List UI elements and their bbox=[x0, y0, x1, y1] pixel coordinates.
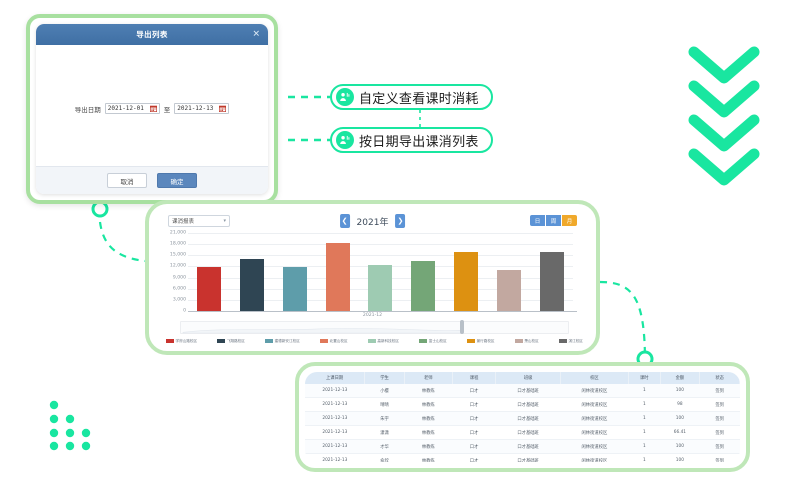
legend-label: 景行路校区 bbox=[477, 339, 495, 344]
table-cell: 林教练 bbox=[404, 454, 452, 463]
table-cell: 2021-12-13 bbox=[305, 440, 365, 454]
report-type-value: 课消报表 bbox=[172, 217, 194, 225]
table-header-row: 上课日期学生老师课程班级校区课时金额状态 bbox=[305, 372, 740, 384]
table-column-header[interactable]: 课时 bbox=[629, 372, 660, 384]
table-cell: 98 bbox=[660, 398, 700, 412]
date-to-input[interactable]: 2021-12-13 bbox=[174, 103, 229, 114]
date-range-row: 导出日期 2021-12-01 至 bbox=[36, 103, 268, 114]
table-cell: 林教练 bbox=[404, 412, 452, 426]
chart-range-scrollbar[interactable] bbox=[180, 321, 569, 334]
chevron-right-icon[interactable]: ❯ bbox=[395, 214, 405, 228]
table-column-header[interactable]: 校区 bbox=[560, 372, 628, 384]
table-cell: 口才基础班 bbox=[496, 384, 560, 398]
legend-item[interactable]: 建德新安江校区 bbox=[265, 339, 300, 344]
table-cell: 2021-12-13 bbox=[305, 384, 365, 398]
range-toggle-week[interactable]: 周 bbox=[546, 215, 561, 226]
callout-label: 按日期导出课消列表 bbox=[359, 131, 479, 150]
table-cell: 2021-12-13 bbox=[305, 426, 365, 440]
table-cell: 口才基础班 bbox=[496, 440, 560, 454]
legend-swatch bbox=[467, 339, 475, 343]
callout-pill-export-list: 按日期导出课消列表 bbox=[330, 127, 493, 153]
legend-label: 高新科技校区 bbox=[377, 339, 399, 344]
calendar-icon[interactable] bbox=[150, 105, 157, 112]
screenshot-root: 导出列表 ✕ 导出日期 2021-12-01 bbox=[0, 0, 800, 500]
range-toggle-day[interactable]: 日 bbox=[530, 215, 545, 226]
table-cell: 口才基础班 bbox=[496, 426, 560, 440]
table-cell: 66.41 bbox=[660, 426, 700, 440]
table-cell: 1 bbox=[629, 426, 660, 440]
table-cell: 林教练 bbox=[404, 398, 452, 412]
table-column-header[interactable]: 课程 bbox=[452, 372, 496, 384]
person-chart-icon bbox=[336, 131, 354, 149]
table-cell: 签到 bbox=[700, 412, 740, 426]
chart-panel: 课消报表 ▾ ❮ 2021年 ❯ 日 周 月 03,0006,0009,0001… bbox=[154, 209, 591, 346]
chart-legend: 学府山路校区飞翔路校区建德新安江校区北置山校区高新科技校区富士山校区景行路校区萧… bbox=[166, 336, 583, 346]
table-cell: 签到 bbox=[700, 426, 740, 440]
date-from-value: 2021-12-01 bbox=[108, 105, 144, 112]
chart-bar[interactable] bbox=[326, 243, 350, 311]
table-cell: 口才 bbox=[452, 384, 496, 398]
legend-swatch bbox=[419, 339, 427, 343]
chevron-down-icon: ▾ bbox=[223, 218, 226, 224]
table-cell: 朱宇 bbox=[365, 412, 405, 426]
y-axis-tick: 12,000 bbox=[170, 264, 186, 269]
table-cell: 口才基础班 bbox=[496, 398, 560, 412]
table-row[interactable]: 2021-12-13潇潇林教练口才口才基础班闲林街道校区166.41签到 bbox=[305, 426, 740, 440]
legend-swatch bbox=[320, 339, 328, 343]
date-range-separator: 至 bbox=[164, 104, 171, 114]
cancel-button[interactable]: 取消 bbox=[107, 173, 147, 188]
x-axis-tick-label: 2021-12 bbox=[154, 313, 591, 318]
report-type-select[interactable]: 课消报表 ▾ bbox=[168, 215, 230, 227]
table-cell: 闲林街道校区 bbox=[560, 384, 628, 398]
table-column-header[interactable]: 上课日期 bbox=[305, 372, 365, 384]
table-column-header[interactable]: 状态 bbox=[700, 372, 740, 384]
date-to-value: 2021-12-13 bbox=[177, 105, 213, 112]
table-cell: 口才基础班 bbox=[496, 412, 560, 426]
records-table-card: 上课日期学生老师课程班级校区课时金额状态 2021-12-13小樱林教练口才口才… bbox=[295, 362, 750, 472]
bar-chart: 03,0006,0009,00012,00015,00018,00021,000… bbox=[154, 233, 591, 323]
legend-item[interactable]: 北置山校区 bbox=[320, 339, 347, 344]
table-cell: 林教练 bbox=[404, 384, 452, 398]
records-table: 上课日期学生老师课程班级校区课时金额状态 2021-12-13小樱林教练口才口才… bbox=[305, 372, 740, 462]
y-axis-tick-labels: 03,0006,0009,00012,00015,00018,00021,000 bbox=[160, 233, 186, 311]
calendar-icon[interactable] bbox=[219, 105, 226, 112]
table-body: 2021-12-13小樱林教练口才口才基础班闲林街道校区1100签到2021-1… bbox=[305, 384, 740, 462]
table-column-header[interactable]: 金额 bbox=[660, 372, 700, 384]
callout-pill-custom-view: 自定义查看课时消耗 bbox=[330, 84, 493, 110]
legend-label: 飞翔路校区 bbox=[227, 339, 245, 344]
x-axis-line bbox=[188, 311, 577, 312]
y-axis-tick: 15,000 bbox=[170, 253, 186, 258]
legend-label: 建德新安江校区 bbox=[275, 339, 300, 344]
y-axis-tick: 6,000 bbox=[173, 286, 186, 291]
chart-bar[interactable] bbox=[540, 252, 564, 311]
callout-label: 自定义查看课时消耗 bbox=[359, 88, 479, 107]
table-cell: 签到 bbox=[700, 454, 740, 463]
legend-label: 北置山校区 bbox=[330, 339, 348, 344]
table-cell: 林教练 bbox=[404, 426, 452, 440]
legend-item[interactable]: 萧山校区 bbox=[515, 339, 539, 344]
chart-bar[interactable] bbox=[240, 259, 264, 311]
range-preview-curve bbox=[183, 326, 463, 333]
table-cell: 潇潇 bbox=[365, 426, 405, 440]
dialog-footer: 取消 确定 bbox=[36, 166, 268, 194]
table-cell: 闲林街道校区 bbox=[560, 426, 628, 440]
table-cell: 俞欣 bbox=[365, 454, 405, 463]
table-cell: 口才 bbox=[452, 440, 496, 454]
export-dialog: 导出列表 ✕ 导出日期 2021-12-01 bbox=[36, 24, 268, 194]
chart-bar[interactable] bbox=[454, 252, 478, 311]
scrollbar-handle[interactable] bbox=[460, 320, 464, 334]
export-dialog-card: 导出列表 ✕ 导出日期 2021-12-01 bbox=[26, 14, 278, 204]
table-cell: 1 bbox=[629, 398, 660, 412]
range-toggle-month[interactable]: 月 bbox=[562, 215, 577, 226]
table-row[interactable]: 2021-12-13朱宇林教练口才口才基础班闲林街道校区1100签到 bbox=[305, 412, 740, 426]
table-column-header[interactable]: 学生 bbox=[365, 372, 405, 384]
y-axis-tick: 21,000 bbox=[170, 231, 186, 236]
legend-item[interactable]: 景行路校区 bbox=[467, 339, 494, 344]
table-column-header[interactable]: 班级 bbox=[496, 372, 560, 384]
table-cell: 才华 bbox=[365, 440, 405, 454]
table-cell: 签到 bbox=[700, 440, 740, 454]
legend-swatch bbox=[368, 339, 376, 343]
table-cell: 口才基础班 bbox=[496, 454, 560, 463]
legend-swatch bbox=[166, 339, 174, 343]
table-cell: 1 bbox=[629, 412, 660, 426]
table-column-header[interactable]: 老师 bbox=[404, 372, 452, 384]
table-cell: 1 bbox=[629, 440, 660, 454]
legend-swatch bbox=[217, 339, 225, 343]
chart-bar[interactable] bbox=[197, 267, 221, 311]
table-cell: 1 bbox=[629, 384, 660, 398]
table-cell: 小樱 bbox=[365, 384, 405, 398]
range-toggle-group: 日 周 月 bbox=[530, 215, 577, 226]
legend-item[interactable]: 高新科技校区 bbox=[368, 339, 399, 344]
table-cell: 口才 bbox=[452, 412, 496, 426]
records-table-wrapper: 上课日期学生老师课程班级校区课时金额状态 2021-12-13小樱林教练口才口才… bbox=[305, 372, 740, 462]
year-label: 2021年 bbox=[357, 215, 389, 228]
chart-bar[interactable] bbox=[497, 270, 521, 311]
table-cell: 签到 bbox=[700, 384, 740, 398]
table-cell: 晴晴 bbox=[365, 398, 405, 412]
dot-grid-decoration bbox=[46, 398, 106, 450]
table-cell: 口才 bbox=[452, 426, 496, 440]
chart-bar[interactable] bbox=[283, 267, 307, 311]
legend-label: 滨江校区 bbox=[569, 339, 583, 344]
chevron-down-icon-group bbox=[686, 44, 782, 184]
table-cell: 闲林街道校区 bbox=[560, 398, 628, 412]
table-cell: 100 bbox=[660, 440, 700, 454]
confirm-button[interactable]: 确定 bbox=[157, 173, 197, 188]
legend-item[interactable]: 飞翔路校区 bbox=[217, 339, 244, 344]
table-row[interactable]: 2021-12-13俞欣林教练口才口才基础班闲林街道校区1100签到 bbox=[305, 454, 740, 463]
y-axis-tick: 9,000 bbox=[173, 275, 186, 280]
table-cell: 闲林街道校区 bbox=[560, 454, 628, 463]
person-chart-icon bbox=[336, 88, 354, 106]
table-cell: 2021-12-13 bbox=[305, 454, 365, 463]
chart-bars bbox=[188, 233, 573, 311]
dialog-titlebar: 导出列表 ✕ bbox=[36, 24, 268, 45]
legend-swatch bbox=[265, 339, 273, 343]
table-row[interactable]: 2021-12-13才华林教练口才口才基础班闲林街道校区1100签到 bbox=[305, 440, 740, 454]
close-icon[interactable]: ✕ bbox=[252, 30, 260, 39]
legend-label: 学府山路校区 bbox=[176, 339, 198, 344]
chart-bar[interactable] bbox=[368, 265, 392, 311]
legend-item[interactable]: 学府山路校区 bbox=[166, 339, 197, 344]
table-cell: 2021-12-13 bbox=[305, 412, 365, 426]
dialog-body: 导出日期 2021-12-01 至 bbox=[36, 45, 268, 166]
legend-item[interactable]: 滨江校区 bbox=[559, 339, 583, 344]
y-axis-tick: 18,000 bbox=[170, 242, 186, 247]
legend-label: 萧山校区 bbox=[524, 339, 538, 344]
y-axis-tick: 3,000 bbox=[173, 297, 186, 302]
table-cell: 2021-12-13 bbox=[305, 398, 365, 412]
legend-swatch bbox=[559, 339, 567, 343]
chart-panel-card: 课消报表 ▾ ❮ 2021年 ❯ 日 周 月 03,0006,0009,0001… bbox=[145, 200, 600, 355]
table-cell: 100 bbox=[660, 412, 700, 426]
table-cell: 口才 bbox=[452, 454, 496, 463]
table-cell: 100 bbox=[660, 454, 700, 463]
table-cell: 闲林街道校区 bbox=[560, 412, 628, 426]
dialog-title: 导出列表 bbox=[136, 29, 168, 40]
date-range-label: 导出日期 bbox=[75, 104, 101, 114]
legend-label: 富士山校区 bbox=[429, 339, 447, 344]
legend-swatch bbox=[515, 339, 523, 343]
chart-toolbar: 课消报表 ▾ ❮ 2021年 ❯ 日 周 月 bbox=[154, 215, 591, 231]
table-row[interactable]: 2021-12-13晴晴林教练口才口才基础班闲林街道校区198签到 bbox=[305, 398, 740, 412]
chart-bar[interactable] bbox=[411, 261, 435, 311]
table-cell: 口才 bbox=[452, 398, 496, 412]
table-row[interactable]: 2021-12-13小樱林教练口才口才基础班闲林街道校区1100签到 bbox=[305, 384, 740, 398]
table-cell: 1 bbox=[629, 454, 660, 463]
table-head: 上课日期学生老师课程班级校区课时金额状态 bbox=[305, 372, 740, 384]
table-cell: 林教练 bbox=[404, 440, 452, 454]
table-cell: 签到 bbox=[700, 398, 740, 412]
table-cell: 闲林街道校区 bbox=[560, 440, 628, 454]
date-from-input[interactable]: 2021-12-01 bbox=[105, 103, 160, 114]
chevron-left-icon[interactable]: ❮ bbox=[340, 214, 350, 228]
table-cell: 100 bbox=[660, 384, 700, 398]
legend-item[interactable]: 富士山校区 bbox=[419, 339, 446, 344]
year-navigator: ❮ 2021年 ❯ bbox=[340, 214, 406, 228]
